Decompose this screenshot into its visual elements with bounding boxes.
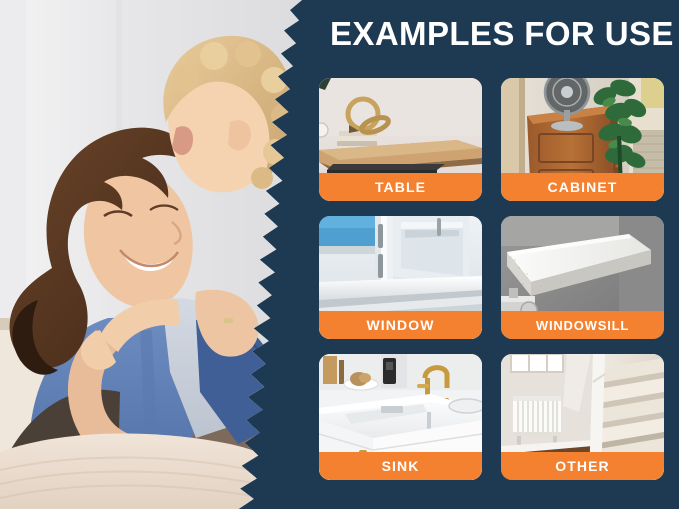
card-label-window: WINDOW (319, 311, 482, 339)
example-card-window[interactable]: WINDOW (319, 216, 482, 339)
infographic-root: EXAMPLES FOR USE (0, 0, 679, 509)
example-card-table[interactable]: TABLE (319, 78, 482, 201)
example-card-windowsill[interactable]: WINDOWSILL (501, 216, 664, 339)
card-label-cabinet: CABINET (501, 173, 664, 201)
example-card-other[interactable]: OTHER (501, 354, 664, 480)
card-label-sink: SINK (319, 452, 482, 480)
examples-panel: EXAMPLES FOR USE (302, 0, 679, 509)
example-card-cabinet[interactable]: CABINET (501, 78, 664, 201)
page-title: EXAMPLES FOR USE (330, 17, 664, 51)
card-label-other: OTHER (501, 452, 664, 480)
examples-grid: TABLE (319, 78, 664, 488)
example-card-sink[interactable]: SINK (319, 354, 482, 480)
mother-and-child-photo (0, 0, 302, 509)
mother-and-child-illustration (0, 0, 302, 509)
card-label-windowsill: WINDOWSILL (501, 311, 664, 339)
card-label-table: TABLE (319, 173, 482, 201)
